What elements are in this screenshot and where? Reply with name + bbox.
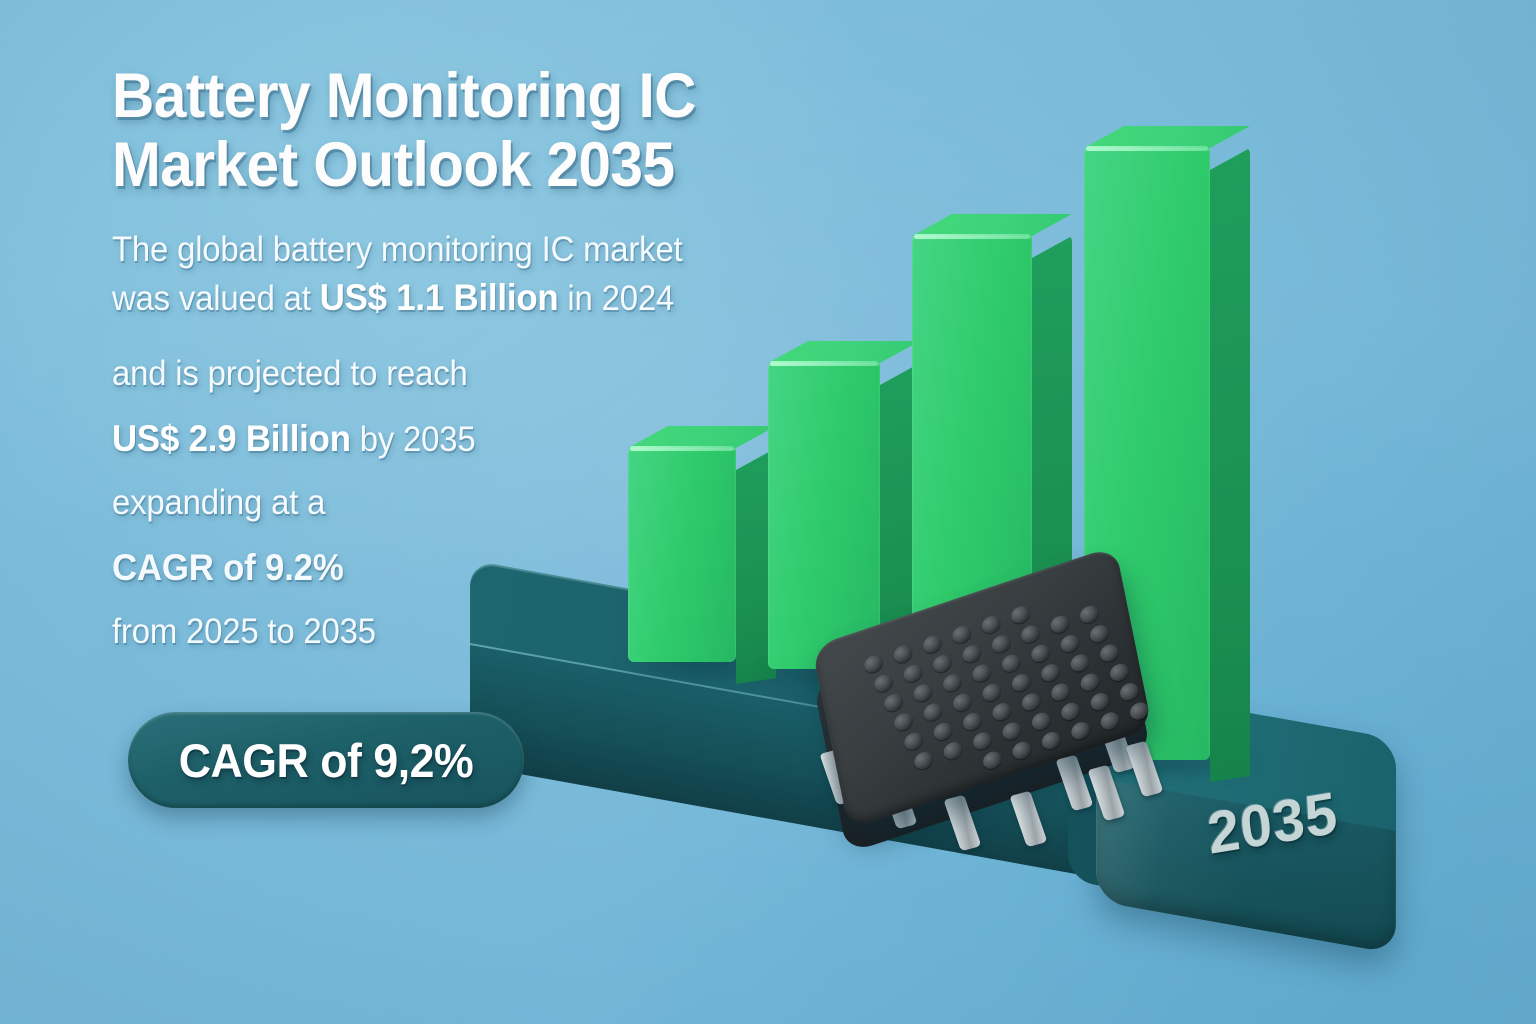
chip-contact-dot xyxy=(873,672,894,694)
chip-contact-dot xyxy=(972,730,993,752)
chip-contact-dot xyxy=(1079,603,1100,625)
paragraph-one-line-two: was valued at US$ 1.1 Billion in 2024 xyxy=(112,273,808,323)
bar-top-edge-highlight xyxy=(914,234,1030,239)
chip-contact-dot xyxy=(1050,681,1071,703)
chip-pin xyxy=(1126,741,1164,798)
chip-contact-dot xyxy=(1099,642,1120,664)
chip-contact-dot xyxy=(1010,672,1031,694)
chip-contact-dot xyxy=(1109,661,1130,683)
chip-contact-dot xyxy=(1069,652,1090,674)
forecast-value-line: US$ 2.9 Billion by 2035 xyxy=(112,414,808,464)
value-2035: US$ 2.9 Billion xyxy=(112,418,351,459)
chip-contact-dot xyxy=(1060,700,1081,722)
chip-contact-dot xyxy=(1089,623,1110,645)
chip-contact-dot xyxy=(913,750,934,772)
chip-contact-dot xyxy=(922,633,943,655)
chip-contact-dot xyxy=(982,749,1003,771)
chip-contact-dot xyxy=(952,691,973,713)
chip-contact-dot xyxy=(951,623,972,645)
chip-contact-dot xyxy=(942,740,963,762)
chip-contact-dot xyxy=(971,662,992,684)
chip-contact-dot xyxy=(1001,720,1022,742)
chip-contact-dot xyxy=(892,643,913,665)
chip-contact-dot xyxy=(942,672,963,694)
expanding-line: expanding at a xyxy=(112,480,808,527)
chip-contact-dot xyxy=(902,662,923,684)
chip-contact-dot xyxy=(903,730,924,752)
chip-contact-dot xyxy=(1040,729,1061,751)
paragraph-one-line-one: The global battery monitoring IC market xyxy=(112,227,808,274)
value-2024: US$ 1.1 Billion xyxy=(320,277,559,318)
chip-contact-dot xyxy=(1070,720,1091,742)
chip-pin xyxy=(1010,791,1048,848)
chip-contact-dot xyxy=(1079,671,1100,693)
chip-contact-dot xyxy=(1099,710,1120,732)
chip-contact-dot xyxy=(863,653,884,675)
chip-contact-dot xyxy=(1049,613,1070,635)
chip-contact-dot xyxy=(961,643,982,665)
chip-contact-dot xyxy=(1040,662,1061,684)
page-title: Battery Monitoring IC Market Outlook 203… xyxy=(112,62,800,201)
chip-contact-dot xyxy=(1059,633,1080,655)
chip-contact-dot xyxy=(962,711,983,733)
valued-at-prefix: was valued at xyxy=(112,279,320,318)
bar-side-face xyxy=(1210,148,1250,782)
chip-contact-dot xyxy=(1030,642,1051,664)
year-2024-suffix: in 2024 xyxy=(558,279,674,318)
chip-contact-dot xyxy=(1020,691,1041,713)
cagr-badge-label: CAGR of 9,2% xyxy=(179,733,474,788)
period-line: from 2025 to 2035 xyxy=(112,609,808,656)
bar-top-edge-highlight xyxy=(1086,146,1208,151)
chip-contact-dot xyxy=(893,711,914,733)
ic-chip xyxy=(806,566,1172,866)
year-2035-suffix: by 2035 xyxy=(351,420,476,459)
chip-contact-dot xyxy=(990,633,1011,655)
chip-contact-dot xyxy=(1129,700,1150,722)
chip-contact-dot xyxy=(932,720,953,742)
chip-contact-dot xyxy=(932,653,953,675)
chip-contact-dot xyxy=(1011,739,1032,761)
chip-contact-dot xyxy=(1010,604,1031,626)
projected-line: and is projected to reach xyxy=(112,351,808,398)
chip-contact-dot xyxy=(922,701,943,723)
cagr-line: CAGR of 9.2% xyxy=(112,543,808,593)
infographic-canvas: 2035 Battery Monitoring IC Market Outloo… xyxy=(0,0,1536,1024)
chip-contact-dot xyxy=(1119,681,1140,703)
cagr-badge: CAGR of 9,2% xyxy=(128,712,524,808)
chip-contact-dot xyxy=(1000,652,1021,674)
chip-contact-dot xyxy=(980,614,1001,636)
chip-contact-dot xyxy=(1030,710,1051,732)
chip-pin xyxy=(1088,765,1126,822)
chip-contact-dot xyxy=(1020,623,1041,645)
chip-contact-dot xyxy=(1089,691,1110,713)
text-column: Battery Monitoring IC Market Outlook 203… xyxy=(112,62,852,656)
paragraph-two: and is projected to reach US$ 2.9 Billio… xyxy=(112,351,808,655)
chip-contact-dot xyxy=(991,701,1012,723)
paragraph-one: The global battery monitoring IC market … xyxy=(112,227,808,324)
chip-contact-dot xyxy=(981,681,1002,703)
chip-contact-dot xyxy=(883,692,904,714)
chip-contact-dot xyxy=(912,682,933,704)
